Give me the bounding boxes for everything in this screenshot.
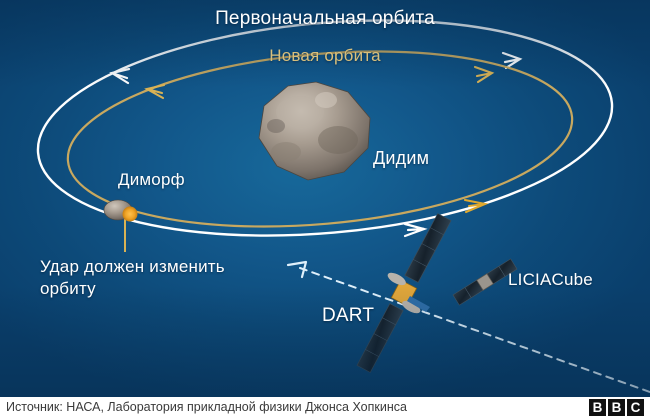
moonlet-icon [104, 200, 138, 252]
label-impact-note: Удар должен изменить орбиту [40, 256, 240, 300]
illustration-stage: Первоначальная орбита Новая орбита Димор… [0, 0, 650, 397]
bbc-logo-letter-2: B [608, 399, 625, 416]
label-liciacube: LICIACube [508, 270, 593, 290]
label-didymos: Дидим [373, 148, 429, 169]
asteroid-icon [259, 82, 370, 180]
label-dart: DART [322, 305, 374, 327]
spacecraft-icon [357, 214, 451, 373]
footer-bar: Источник: НАСА, Лаборатория прикладной ф… [0, 397, 650, 419]
label-dimorphos: Диморф [118, 170, 185, 190]
bbc-logo-letter-1: B [589, 399, 606, 416]
bbc-logo-letter-3: C [627, 399, 644, 416]
bbc-logo: B B C [589, 399, 644, 416]
source-attribution: Источник: НАСА, Лаборатория прикладной ф… [6, 400, 407, 414]
label-new-orbit: Новая орбита [269, 46, 381, 66]
dashed-trajectory-line [288, 262, 650, 392]
infographic-frame: Первоначальная орбита Новая орбита Димор… [0, 0, 650, 419]
label-original-orbit: Первоначальная орбита [215, 8, 435, 30]
